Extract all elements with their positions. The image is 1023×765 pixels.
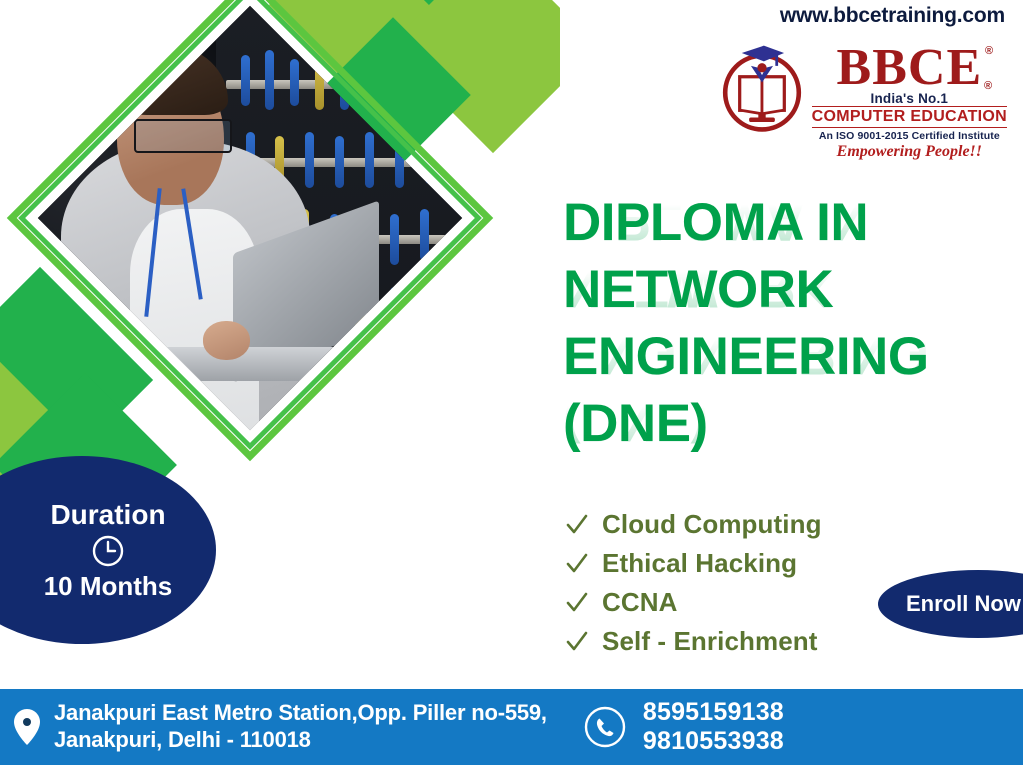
feature-item: CCNA [566,583,822,622]
clock-icon [91,534,125,568]
bbce-logo: BBCE ® ® India's No.1 COMPUTER EDUCATION… [716,40,1007,161]
duration-badge: Duration 10 Months [0,456,216,644]
photo-server-room-technician [38,6,462,430]
phone-number-2[interactable]: 9810553938 [643,727,784,756]
feature-label: CCNA [602,587,678,618]
feature-label: Cloud Computing [602,509,822,540]
duration-label: Duration [50,499,165,531]
logo-brand-text: BBCE ® ® [837,44,983,93]
address-line-1: Janakpuri East Metro Station,Opp. Piller… [54,700,547,727]
phone-icon [583,705,627,749]
check-icon [566,552,588,576]
course-title: DIPLOMA IN DIPLOMA IN NETWORK NETWORK EN… [563,196,1003,464]
graduation-monitor-logo-icon [716,40,808,136]
check-icon [566,630,588,654]
phone-number-1[interactable]: 8595159138 [643,698,784,727]
course-title-line-1-reflection: DIPLOMA IN [563,195,868,248]
course-title-line-4-reflection: (DNE) [563,396,708,449]
feature-item: Ethical Hacking [566,544,822,583]
enroll-now-button[interactable]: Enroll Now [878,570,1023,638]
hero-photo-diamond [10,0,490,458]
feature-label: Ethical Hacking [602,548,797,579]
address-block: Janakpuri East Metro Station,Opp. Piller… [0,700,547,754]
phone-numbers[interactable]: 8595159138 9810553938 [643,698,784,756]
address-text: Janakpuri East Metro Station,Opp. Piller… [54,700,547,754]
course-title-line-2-reflection: NETWORK [563,262,833,315]
duration-value: 10 Months [44,571,173,602]
logo-slogan-text: Empowering People!! [812,143,1007,161]
check-icon [566,513,588,537]
logo-category-text: COMPUTER EDUCATION [812,106,1007,128]
course-title-line-3-reflection: ENGINEERING [563,329,929,382]
location-pin-icon [12,708,42,746]
check-icon [566,591,588,615]
registered-mark-top: ® [985,46,994,56]
logo-certification-text: An ISO 9001-2015 Certified Institute [812,130,1007,142]
website-url[interactable]: www.bbcetraining.com [780,4,1005,28]
address-line-2: Janakpuri, Delhi - 110018 [54,727,547,754]
footer-contact-bar: Janakpuri East Metro Station,Opp. Piller… [0,689,1023,765]
feature-item: Self - Enrichment [566,622,822,661]
feature-item: Cloud Computing [566,505,822,544]
course-feature-list: Cloud Computing Ethical Hacking CCNA Sel… [566,505,822,661]
registered-mark-bottom: ® [984,81,993,91]
phone-block: 8595159138 9810553938 [583,698,784,756]
hero-photo [38,6,462,430]
feature-label: Self - Enrichment [602,626,818,657]
poster-canvas: www.bbcetraining.com BBCE ® ® [0,0,1023,765]
